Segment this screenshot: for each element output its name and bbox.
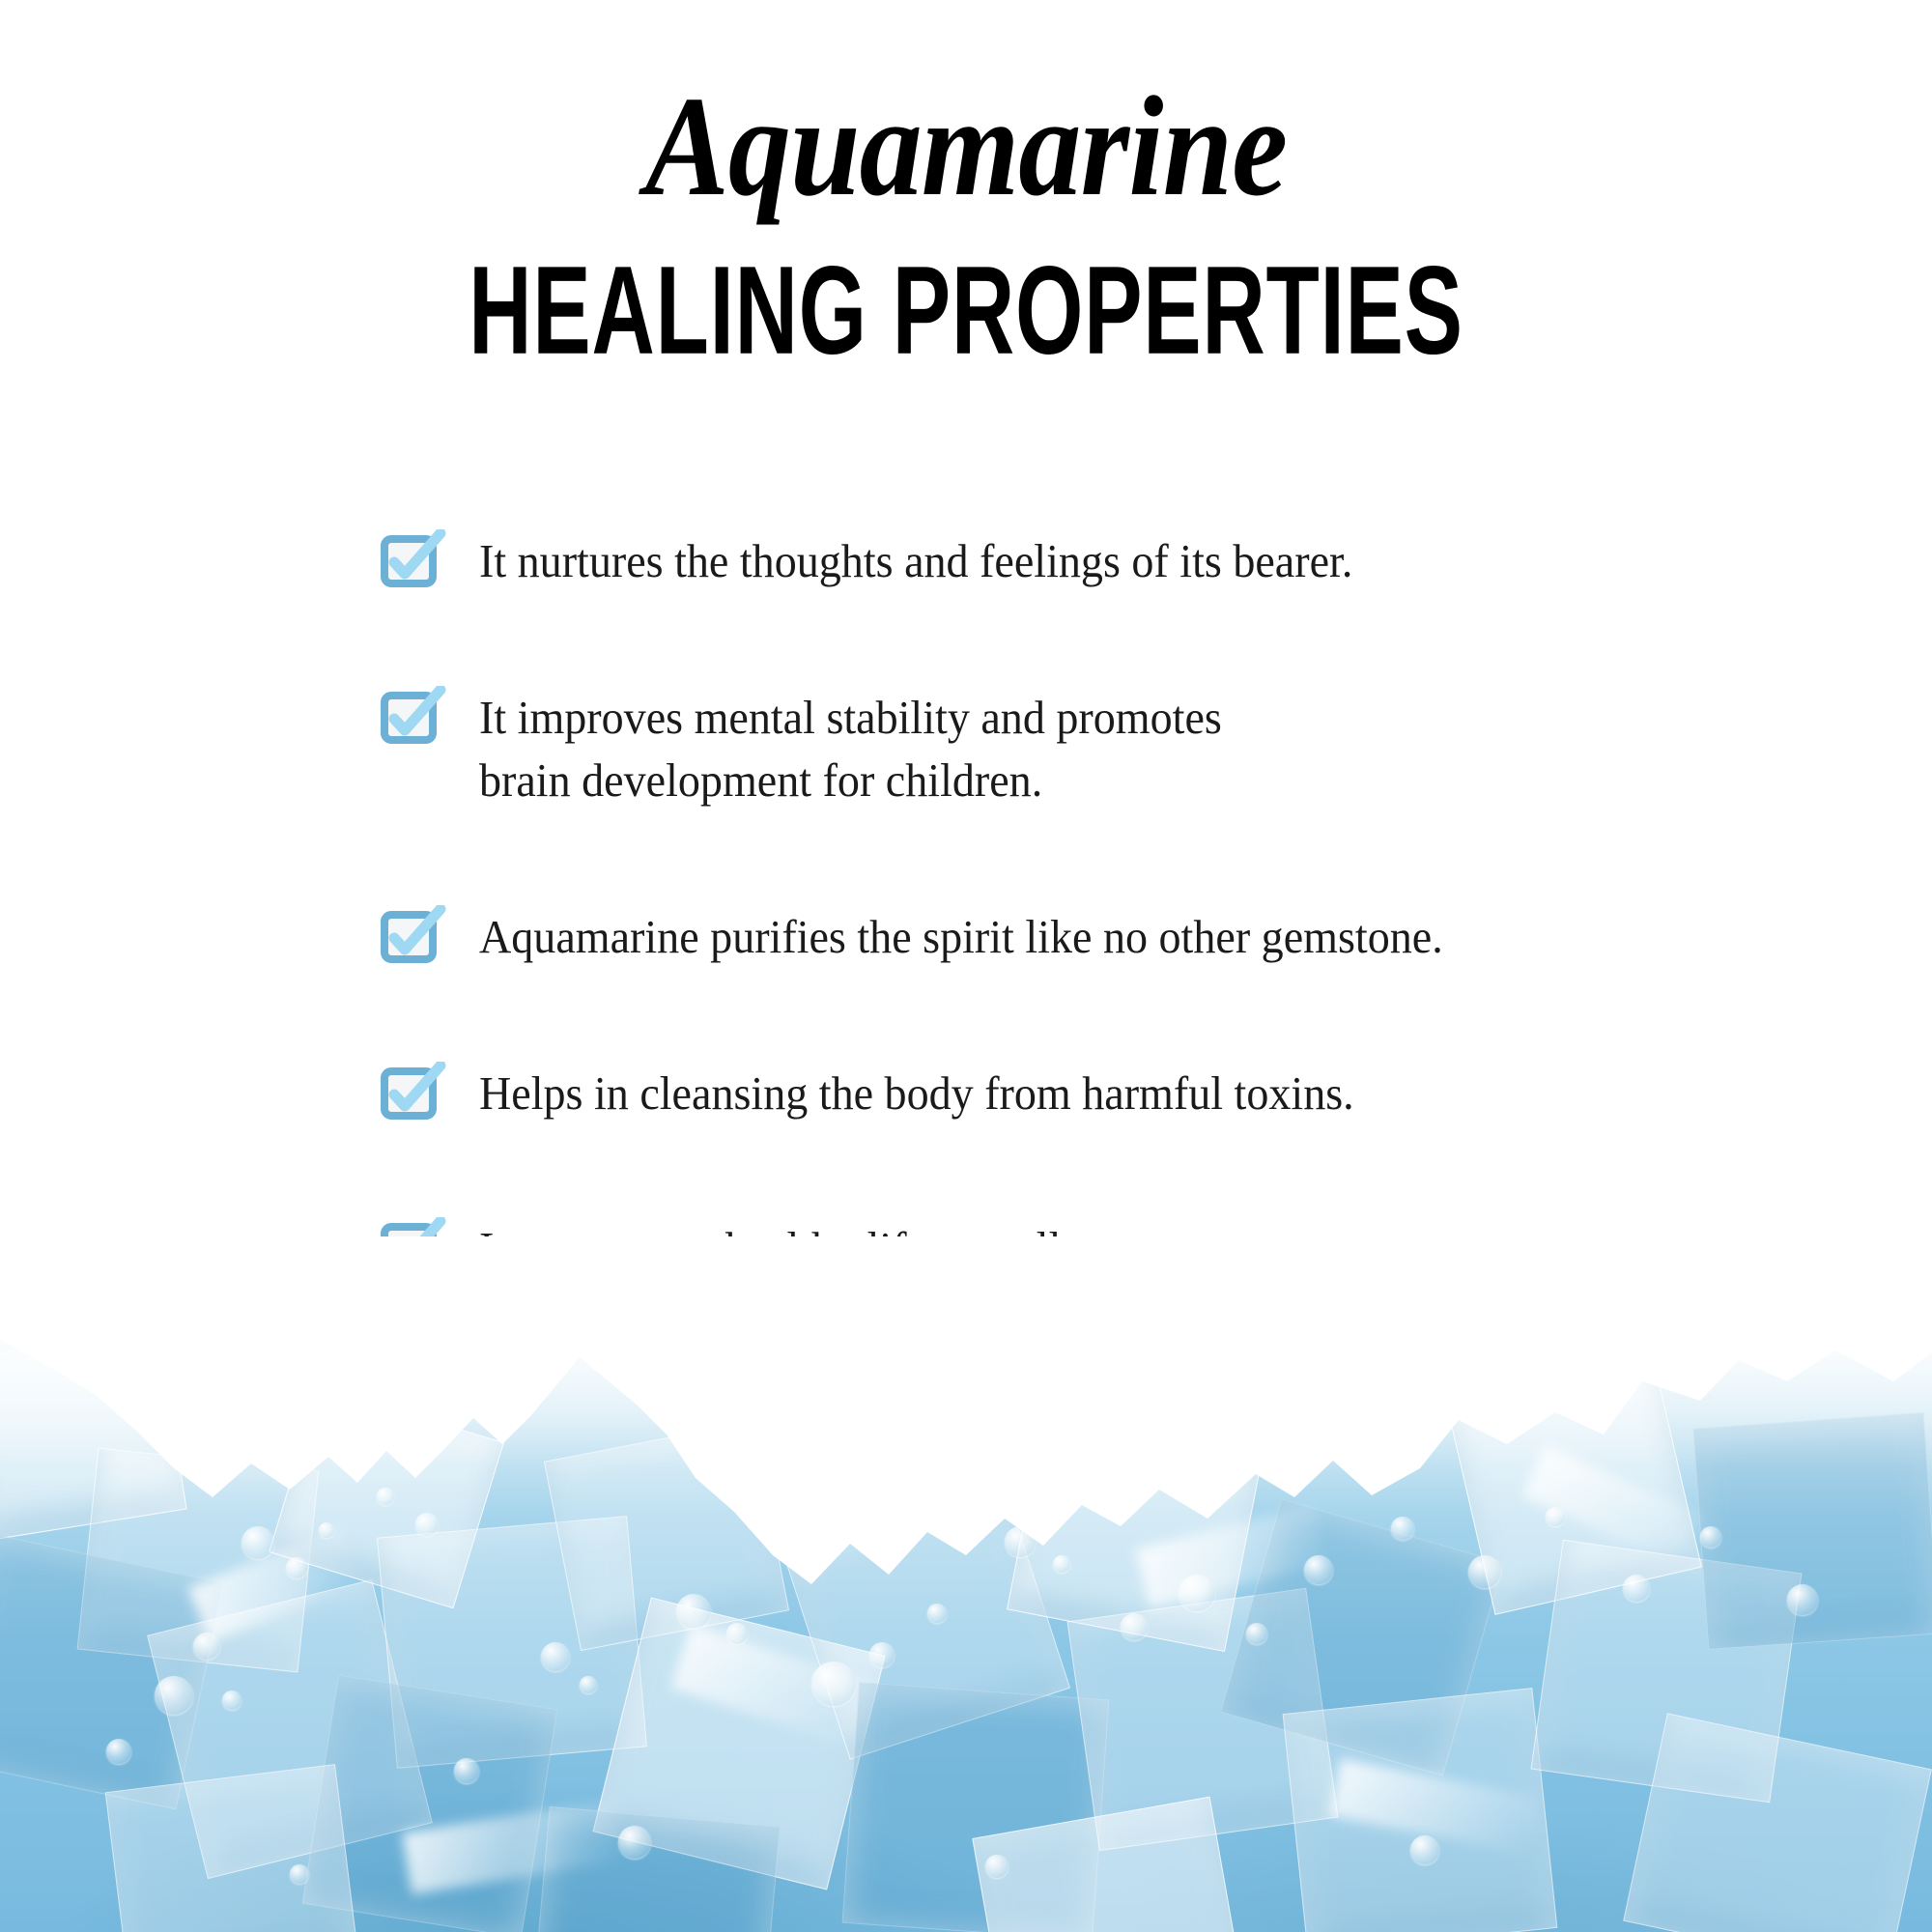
water-droplet bbox=[319, 1522, 334, 1538]
water-droplet bbox=[1700, 1526, 1721, 1548]
list-item-label: It promotes a healthy life overall. bbox=[479, 1217, 1072, 1281]
ice-cube bbox=[302, 1674, 558, 1932]
water-droplet bbox=[1053, 1555, 1070, 1573]
ice-cube bbox=[842, 1682, 1110, 1932]
water-droplet bbox=[676, 1594, 711, 1629]
water-droplet bbox=[155, 1676, 193, 1715]
ice-cube bbox=[1283, 1688, 1558, 1932]
water-droplet bbox=[377, 1488, 394, 1505]
water-droplet bbox=[541, 1642, 570, 1671]
water-droplet bbox=[1623, 1575, 1650, 1602]
water-droplet bbox=[1391, 1517, 1414, 1540]
water-droplet bbox=[1546, 1507, 1565, 1526]
list-item-label: Helps in cleansing the body from harmful… bbox=[479, 1062, 1354, 1125]
ice-highlight bbox=[402, 1800, 621, 1894]
ice-cube bbox=[1531, 1540, 1803, 1803]
ice-highlight bbox=[188, 1526, 362, 1641]
list-item-label: It improves mental stability and promote… bbox=[479, 686, 1222, 812]
water-droplet bbox=[193, 1633, 220, 1660]
checked-checkbox-icon bbox=[383, 913, 437, 967]
ice-cube bbox=[0, 1328, 187, 1542]
water-droplet bbox=[415, 1513, 439, 1536]
list-item-label: It nurtures the thoughts and feelings of… bbox=[479, 529, 1352, 593]
ice-cube bbox=[1447, 1360, 1702, 1615]
ice-cube bbox=[1623, 1713, 1932, 1932]
water-droplet bbox=[1468, 1555, 1501, 1588]
water-droplet bbox=[1121, 1613, 1148, 1640]
ice-cube bbox=[105, 1764, 359, 1932]
checked-checkbox-icon bbox=[383, 694, 437, 748]
list-item: It promotes a healthy life overall. bbox=[383, 1217, 1754, 1281]
ice-cube bbox=[784, 1486, 1070, 1759]
ice-gradient-base bbox=[0, 1236, 1932, 1932]
ice-cube bbox=[0, 1533, 224, 1810]
water-droplet bbox=[241, 1526, 274, 1559]
ice-cube bbox=[592, 1597, 885, 1889]
water-droplet bbox=[1246, 1623, 1267, 1644]
water-droplet bbox=[1787, 1584, 1818, 1615]
ice-cubes-photo bbox=[0, 1236, 1932, 1932]
ice-highlight bbox=[1522, 1445, 1704, 1567]
water-droplet bbox=[811, 1662, 856, 1706]
ice-cube bbox=[377, 1516, 647, 1769]
ice-cube bbox=[544, 1421, 789, 1651]
ice-cube bbox=[1692, 1412, 1932, 1650]
list-item: Helps in cleansing the body from harmful… bbox=[383, 1062, 1754, 1125]
healing-properties-list: It nurtures the thoughts and feelings of… bbox=[383, 529, 1754, 1281]
list-item: It nurtures the thoughts and feelings of… bbox=[383, 529, 1754, 593]
ice-cube bbox=[77, 1448, 320, 1673]
water-droplet bbox=[1179, 1575, 1215, 1611]
poster-header: Aquamarine HEALING PROPERTIES bbox=[0, 75, 1932, 359]
poster-canvas: Aquamarine HEALING PROPERTIES It nurture… bbox=[0, 0, 1932, 1932]
water-droplet bbox=[1304, 1555, 1333, 1584]
page-title: Aquamarine bbox=[116, 75, 1816, 218]
water-droplet bbox=[286, 1557, 307, 1578]
ice-cube bbox=[147, 1579, 433, 1879]
ice-cube bbox=[533, 1806, 781, 1932]
ice-cube bbox=[269, 1386, 504, 1609]
water-droplet bbox=[618, 1826, 651, 1859]
ice-cube bbox=[972, 1797, 1239, 1932]
water-droplet bbox=[1005, 1526, 1036, 1557]
ice-cube bbox=[1067, 1588, 1339, 1851]
page-subtitle: HEALING PROPERTIES bbox=[213, 247, 1719, 373]
ice-top-silhouette-mask bbox=[0, 1236, 1932, 1932]
water-droplet bbox=[869, 1642, 895, 1667]
ice-highlight bbox=[1329, 1759, 1540, 1855]
water-droplet bbox=[985, 1855, 1009, 1878]
water-droplet bbox=[927, 1604, 947, 1623]
checked-checkbox-icon bbox=[383, 1225, 437, 1279]
water-droplet bbox=[454, 1758, 479, 1783]
water-droplet bbox=[580, 1676, 597, 1693]
checked-checkbox-icon bbox=[383, 537, 437, 591]
water-droplet bbox=[726, 1623, 748, 1644]
water-droplet bbox=[1410, 1835, 1439, 1864]
ice-highlight bbox=[1135, 1505, 1327, 1607]
water-droplet bbox=[222, 1690, 241, 1710]
ice-cube bbox=[1220, 1498, 1504, 1776]
ice-cube bbox=[1007, 1410, 1264, 1652]
checked-checkbox-icon bbox=[383, 1069, 437, 1123]
list-item: Aquamarine purifies the spirit like no o… bbox=[383, 905, 1754, 969]
list-item: It improves mental stability and promote… bbox=[383, 686, 1754, 812]
water-droplet bbox=[290, 1864, 309, 1884]
list-item-label: Aquamarine purifies the spirit like no o… bbox=[479, 905, 1443, 969]
ice-highlight bbox=[670, 1624, 875, 1747]
water-droplet bbox=[106, 1739, 131, 1764]
